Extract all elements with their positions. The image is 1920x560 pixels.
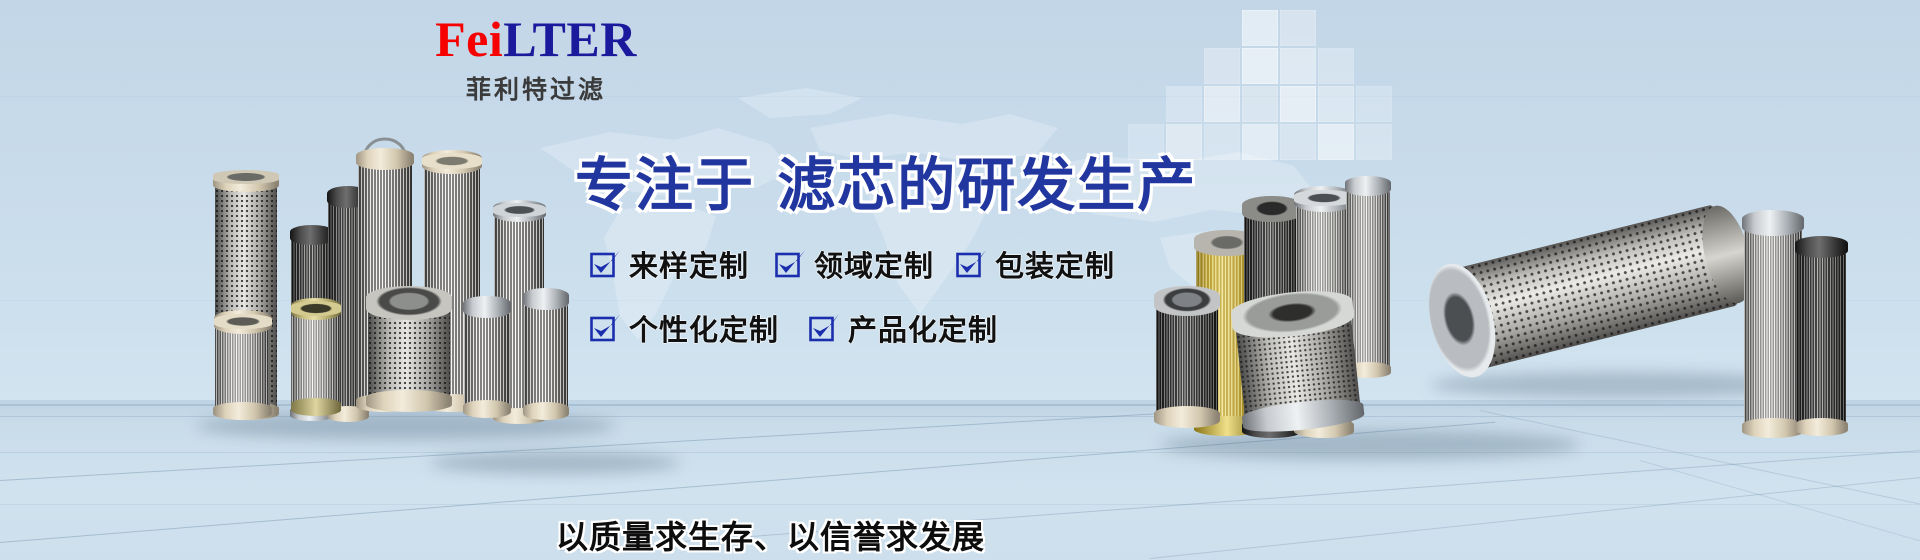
feature-list: 来样定制 领域定制	[590, 243, 1210, 371]
promo-banner: FeiLTER 菲利特过滤 专注于 滤芯的研发生产 来样定制	[0, 0, 1920, 560]
feature-label: 包装定制	[995, 243, 1115, 285]
feature-item[interactable]: 产品化定制	[809, 307, 998, 349]
checkbox-check-icon	[590, 249, 620, 279]
feature-row: 来样定制 领域定制	[590, 243, 1210, 285]
checkbox-check-icon	[590, 313, 620, 343]
brand-chinese-name: 菲利特过滤	[386, 70, 686, 106]
headline: 专注于 滤芯的研发生产	[575, 138, 1197, 222]
filter-cartridge	[464, 296, 510, 422]
feature-item[interactable]: 个性化定制	[590, 307, 779, 349]
brand-wordmark-part-1: Fei	[435, 11, 503, 67]
checkbox-check-icon	[809, 313, 839, 343]
filter-cartridge	[1796, 236, 1846, 442]
feature-label: 产品化定制	[848, 307, 998, 349]
brand-logo[interactable]: FeiLTER 菲利特过滤	[386, 12, 686, 106]
feature-row: 个性化定制 产品化定制	[590, 307, 1210, 349]
feature-label: 领域定制	[814, 243, 934, 285]
filter-cartridge	[292, 298, 340, 418]
filter-cartridge	[368, 286, 450, 418]
feature-label: 来样定制	[629, 243, 749, 285]
feature-item[interactable]: 来样定制	[590, 243, 749, 285]
feature-item[interactable]: 包装定制	[956, 243, 1115, 285]
feature-label: 个性化定制	[629, 307, 779, 349]
filter-cartridge	[1232, 286, 1363, 447]
tagline: 以质量求生存、以信誉求发展	[556, 512, 985, 558]
filter-cartridge	[1744, 210, 1802, 448]
filter-cartridge	[216, 310, 270, 422]
checkbox-check-icon	[956, 249, 986, 279]
brand-wordmark-part-2: LTER	[503, 11, 637, 67]
brand-wordmark: FeiLTER	[386, 12, 686, 66]
filter-cartridge	[524, 288, 568, 424]
feature-item[interactable]: 领域定制	[775, 243, 934, 285]
checkbox-check-icon	[775, 249, 805, 279]
